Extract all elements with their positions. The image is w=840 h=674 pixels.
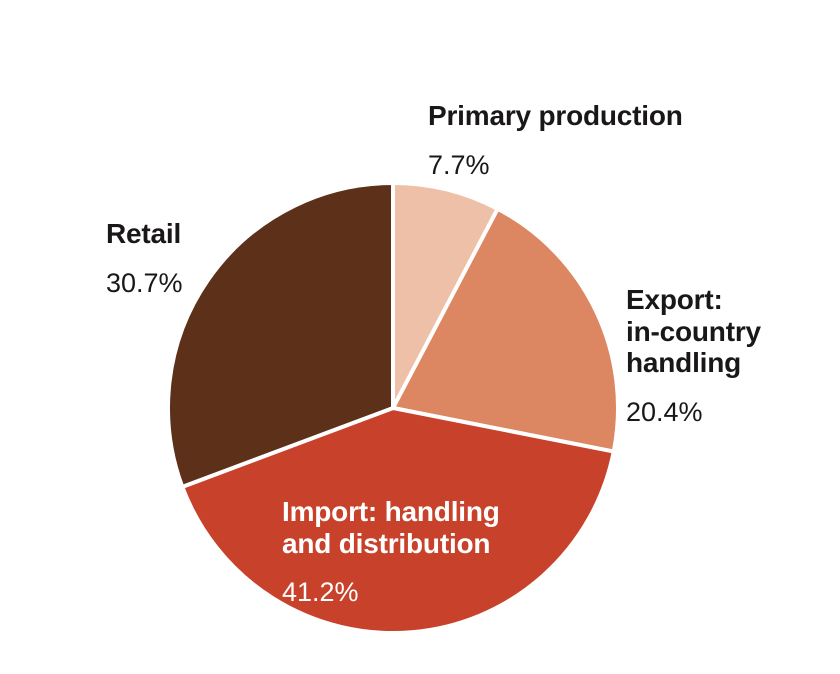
- slice-label-import-handling-and-distribution: Import: handling and distribution 41.2%: [282, 478, 500, 626]
- slice-label-export-percent: 20.4%: [626, 397, 761, 428]
- slice-label-export-in-country-handling: Export: in-country handling 20.4%: [626, 266, 761, 446]
- slice-label-primary-production: Primary production 7.7%: [428, 82, 683, 198]
- slice-label-export-name: Export: in-country handling: [626, 284, 761, 379]
- pie-chart-figure: Primary production 7.7% Export: in-count…: [0, 0, 840, 674]
- slice-label-retail-name: Retail: [106, 218, 183, 250]
- slice-label-retail-percent: 30.7%: [106, 268, 183, 299]
- slice-label-primary-production-name: Primary production: [428, 100, 683, 132]
- slice-label-import-name: Import: handling and distribution: [282, 496, 500, 559]
- slice-label-import-percent: 41.2%: [282, 577, 500, 608]
- slice-label-retail: Retail 30.7%: [106, 200, 183, 316]
- slice-label-primary-production-percent: 7.7%: [428, 150, 683, 181]
